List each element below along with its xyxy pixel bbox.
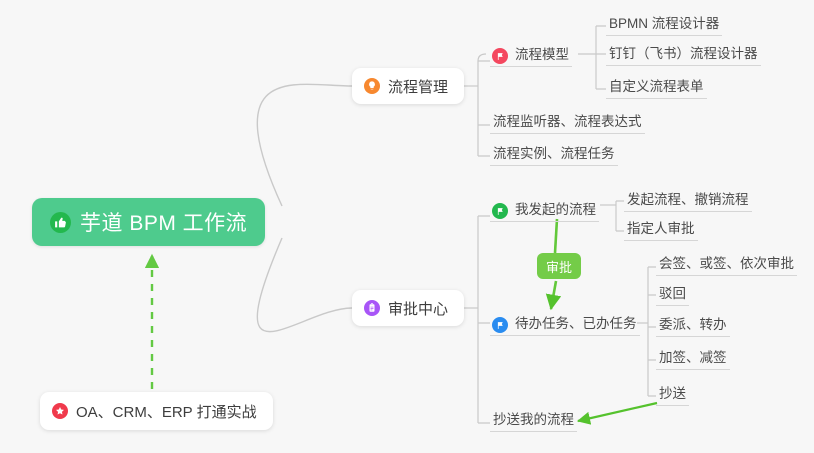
node-label: 抄送 bbox=[659, 387, 686, 404]
floating-node-label: OA、CRM、ERP 打通实战 bbox=[76, 401, 257, 422]
mindmap-canvas: 芋道 BPM 工作流 流程管理 流程模型 BPMN 流程设计器 钉钉（飞书）流程… bbox=[0, 0, 814, 453]
node-daiban-yiban-renwu[interactable]: 待办任务、已办任务 bbox=[490, 310, 640, 336]
node-label: 指定人审批 bbox=[627, 222, 695, 239]
relation-shenpi-upper bbox=[555, 219, 557, 253]
node-weipai-zhuanban[interactable]: 委派、转办 bbox=[656, 311, 730, 337]
node-custom-form[interactable]: 自定义流程表单 bbox=[606, 73, 707, 99]
link-liuchengguanli-branch-stubs bbox=[478, 61, 490, 156]
root-node[interactable]: 芋道 BPM 工作流 bbox=[32, 198, 265, 246]
node-listener-expression[interactable]: 流程监听器、流程表达式 bbox=[490, 108, 645, 134]
node-label: 驳回 bbox=[659, 287, 686, 304]
branch-node-shenpizhongxin[interactable]: 审批中心 bbox=[352, 290, 464, 326]
branch-node-liuchengguanli[interactable]: 流程管理 bbox=[352, 68, 464, 104]
branch-node-label: 流程管理 bbox=[388, 76, 448, 97]
node-label: BPMN 流程设计器 bbox=[609, 17, 719, 34]
node-label: 钉钉（飞书）流程设计器 bbox=[609, 47, 758, 64]
link-root-to-liuchengguanli bbox=[257, 84, 352, 206]
floating-node-oa-crm-erp[interactable]: OA、CRM、ERP 打通实战 bbox=[40, 392, 273, 430]
node-label: 流程实例、流程任务 bbox=[493, 147, 615, 164]
branch-node-label: 审批中心 bbox=[388, 298, 448, 319]
node-wofaqide-liucheng[interactable]: 我发起的流程 bbox=[490, 196, 599, 222]
link-liuchengmoxing-branch-stubs bbox=[596, 26, 606, 89]
link-daibanrenwu-branch-stubs bbox=[648, 267, 656, 396]
node-label: 委派、转办 bbox=[659, 318, 727, 335]
relation-shenpi-lower bbox=[551, 281, 556, 309]
node-liuchengmoxing[interactable]: 流程模型 bbox=[490, 41, 572, 67]
thumbs-up-icon bbox=[50, 212, 71, 233]
node-jiaqian-jianqian[interactable]: 加签、减签 bbox=[656, 344, 730, 370]
node-chaosong-wode-liucheng[interactable]: 抄送我的流程 bbox=[490, 406, 577, 432]
node-dingtalk-designer[interactable]: 钉钉（飞书）流程设计器 bbox=[606, 40, 761, 66]
node-label: 自定义流程表单 bbox=[609, 80, 704, 97]
node-label: 我发起的流程 bbox=[515, 203, 596, 220]
relation-label-shenpi[interactable]: 审批 bbox=[537, 253, 581, 279]
node-zhidingren-shenpi[interactable]: 指定人审批 bbox=[624, 215, 698, 241]
node-label: 流程模型 bbox=[515, 48, 569, 65]
relation-label-text: 审批 bbox=[546, 257, 572, 276]
node-label: 抄送我的流程 bbox=[493, 413, 574, 430]
node-huiqian-huoqian[interactable]: 会签、或签、依次审批 bbox=[656, 250, 797, 276]
flag-icon bbox=[492, 48, 508, 64]
flag-icon bbox=[492, 203, 508, 219]
node-label: 流程监听器、流程表达式 bbox=[493, 115, 642, 132]
root-node-label: 芋道 BPM 工作流 bbox=[80, 207, 247, 237]
node-bohui[interactable]: 驳回 bbox=[656, 280, 689, 306]
link-shenpizhongxin-branch-stubs bbox=[478, 216, 490, 423]
node-label: 发起流程、撤销流程 bbox=[627, 193, 749, 210]
node-instance-task[interactable]: 流程实例、流程任务 bbox=[490, 140, 618, 166]
link-corner-a bbox=[478, 54, 486, 61]
node-chaosong[interactable]: 抄送 bbox=[656, 380, 689, 406]
flag-icon bbox=[492, 317, 508, 333]
link-root-to-shenpizhongxin bbox=[257, 238, 352, 332]
node-faqi-chexiao[interactable]: 发起流程、撤销流程 bbox=[624, 186, 752, 212]
node-label: 待办任务、已办任务 bbox=[515, 317, 637, 334]
link-wofaqide-branch-stubs bbox=[616, 201, 624, 231]
relation-chaosong bbox=[578, 403, 657, 421]
node-label: 会签、或签、依次审批 bbox=[659, 257, 794, 274]
node-label: 加签、减签 bbox=[659, 351, 727, 368]
node-bpmn-designer[interactable]: BPMN 流程设计器 bbox=[606, 10, 722, 36]
lightbulb-icon bbox=[364, 78, 380, 94]
star-icon bbox=[52, 403, 68, 419]
clipboard-icon bbox=[364, 300, 380, 316]
